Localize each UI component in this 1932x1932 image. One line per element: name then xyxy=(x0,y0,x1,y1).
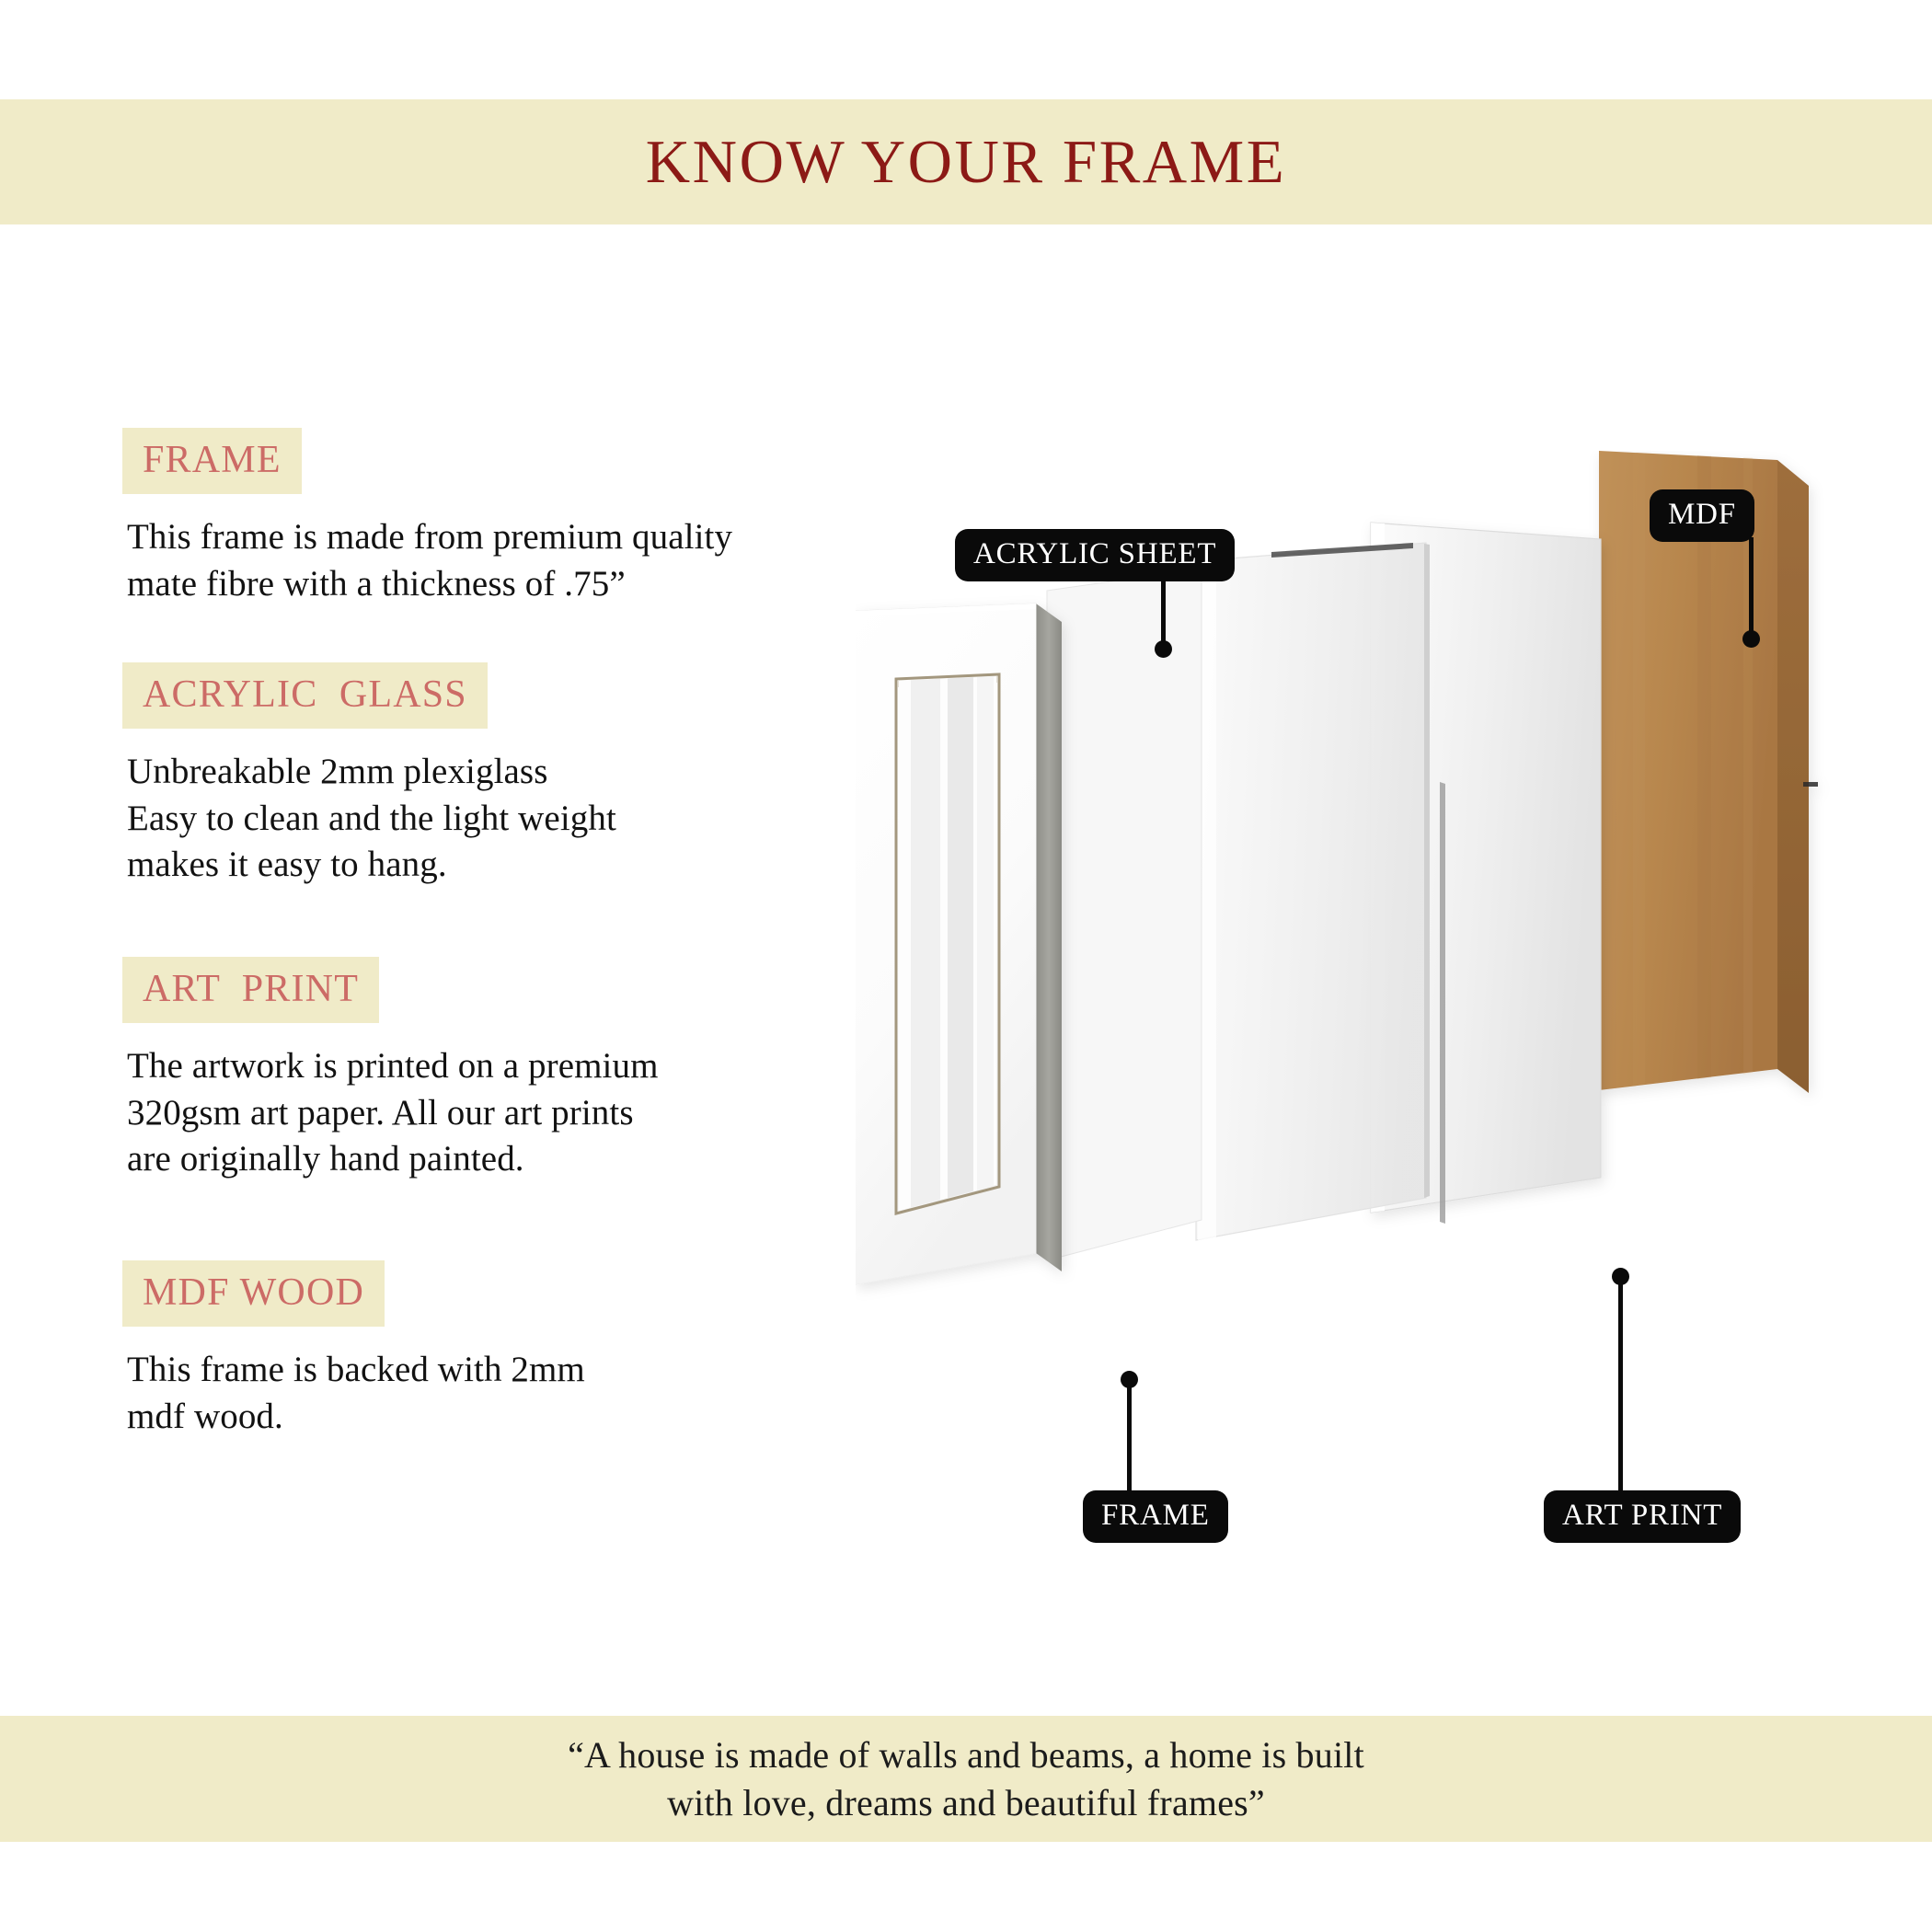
acrylic-sheet-layer xyxy=(1196,543,1430,1240)
section-frame-body: This frame is made from premium quality … xyxy=(127,514,732,607)
page-title: KNOW YOUR FRAME xyxy=(646,132,1286,193)
mat-backer-layer xyxy=(1047,569,1202,1260)
mdf-edge xyxy=(1777,460,1809,1093)
frame-leader-dot xyxy=(1121,1371,1138,1388)
callout-art-print[interactable]: ART PRINT xyxy=(1544,1490,1741,1543)
frame-layers-illustration xyxy=(856,451,1895,1490)
callout-mdf[interactable]: MDF xyxy=(1650,489,1754,542)
acrylic-leader-dot xyxy=(1155,640,1172,658)
sheet-hairline xyxy=(1440,782,1445,1224)
section-artprint-heading-wrap: ART PRINT xyxy=(122,957,659,1023)
section-acrylic-body: Unbreakable 2mm plexiglass Easy to clean… xyxy=(127,749,616,889)
mat-backer-face xyxy=(1047,569,1202,1260)
exploded-frame-diagram xyxy=(856,451,1895,1490)
footer-band: “A house is made of walls and beams, a h… xyxy=(0,1716,1932,1842)
callout-frame[interactable]: FRAME xyxy=(1083,1490,1228,1543)
artprint-leader-line xyxy=(1618,1277,1623,1494)
section-art-print: ART PRINT The artwork is printed on a pr… xyxy=(122,957,659,1183)
section-frame-heading: FRAME xyxy=(122,428,302,494)
section-artprint-heading: ART PRINT xyxy=(122,957,379,1023)
artprint-leader-dot xyxy=(1612,1268,1629,1285)
section-acrylic-glass: ACRYLIC GLASS Unbreakable 2mm plexiglass… xyxy=(122,662,616,889)
acrylic-leader-line xyxy=(1161,577,1166,649)
infographic-page: KNOW YOUR FRAME FRAME This frame is made… xyxy=(0,0,1932,1932)
section-mdfwood-heading: MDF WOOD xyxy=(122,1260,385,1327)
section-mdf-wood: MDF WOOD This frame is backed with 2mm m… xyxy=(122,1260,585,1440)
footer-quote: “A house is made of walls and beams, a h… xyxy=(568,1731,1364,1825)
section-acrylic-heading-wrap: ACRYLIC GLASS xyxy=(122,662,616,729)
section-frame-heading-wrap: FRAME xyxy=(122,428,732,494)
mdf-leader-dot xyxy=(1742,630,1760,648)
mdf-leader-line xyxy=(1749,537,1754,638)
acrylic-sheet-face xyxy=(1196,543,1426,1240)
header-band: KNOW YOUR FRAME xyxy=(0,99,1932,224)
callout-acrylic-sheet[interactable]: ACRYLIC SHEET xyxy=(955,529,1235,581)
frame-leader-line xyxy=(1127,1380,1132,1494)
section-artprint-body: The artwork is printed on a premium 320g… xyxy=(127,1043,659,1183)
section-acrylic-heading: ACRYLIC GLASS xyxy=(122,662,488,729)
section-mdfwood-heading-wrap: MDF WOOD xyxy=(122,1260,585,1327)
section-frame: FRAME This frame is made from premium qu… xyxy=(122,428,732,607)
frame-side-edge xyxy=(1036,604,1062,1271)
mdf-backing-layer xyxy=(1599,451,1818,1093)
section-mdfwood-body: This frame is backed with 2mm mdf wood. xyxy=(127,1347,585,1440)
mdf-hanger-notch xyxy=(1803,782,1818,787)
